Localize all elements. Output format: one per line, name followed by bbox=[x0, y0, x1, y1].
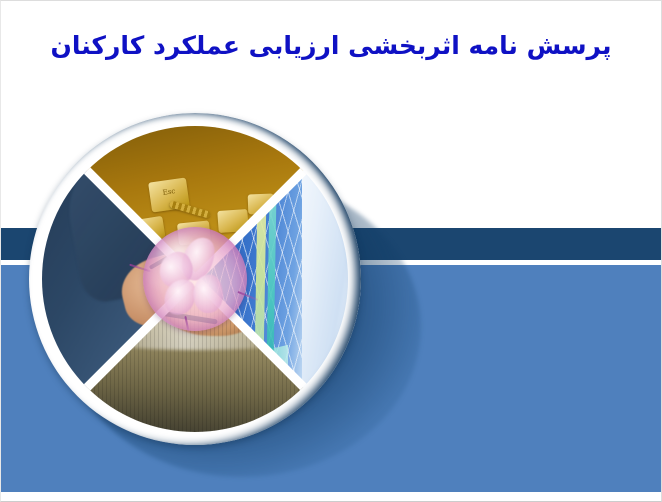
circular-collage: Esc bbox=[27, 111, 371, 455]
presentation-slide: پرسش نامه اثربخشی ارزیابی عملکرد کارکنان… bbox=[0, 0, 662, 502]
butterfly-antenna-bottom bbox=[184, 316, 189, 332]
slide-title: پرسش نامه اثربخشی ارزیابی عملکرد کارکنان bbox=[1, 29, 661, 63]
background-band-bottom bbox=[1, 492, 661, 502]
collage-outer-ring: Esc bbox=[29, 113, 361, 445]
keyboard-cable bbox=[169, 200, 211, 218]
collage-inner-disc: Esc bbox=[42, 126, 348, 432]
pink-butterfly-sphere bbox=[143, 227, 247, 331]
